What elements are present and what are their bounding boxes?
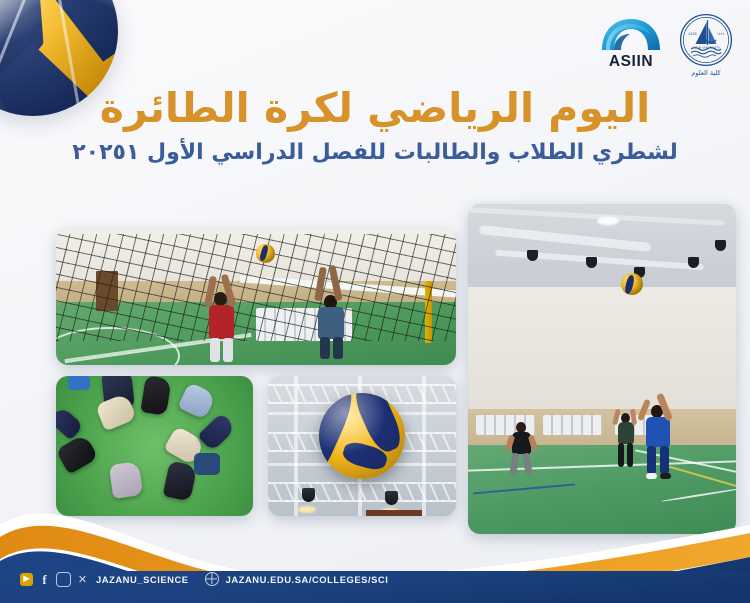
poster-canvas: ASIIN 142 bbox=[0, 0, 750, 603]
college-name-label: كلية العلوم bbox=[676, 69, 736, 77]
player-figure bbox=[204, 278, 244, 362]
arch-icon bbox=[600, 17, 662, 51]
page-title: اليوم الرياضي لكرة الطائرة bbox=[0, 86, 750, 132]
svg-text:JAZAN UNIVERSITY: JAZAN UNIVERSITY bbox=[691, 46, 720, 50]
sailboat-seal-icon: 1426 ١٤٢٦ JAZAN UNIVERSITY bbox=[679, 13, 733, 67]
social-handle: JAZANU_SCIENCE bbox=[96, 574, 189, 585]
globe-icon bbox=[205, 572, 219, 586]
facebook-icon[interactable]: f bbox=[38, 573, 51, 586]
photo-net bbox=[56, 229, 456, 365]
asiin-wordmark: ASIIN bbox=[598, 53, 664, 71]
logo-group: ASIIN 142 bbox=[598, 13, 736, 77]
instagram-icon[interactable] bbox=[56, 572, 71, 587]
jazan-university-logo: 1426 ١٤٢٦ JAZAN UNIVERSITY كلية العلوم bbox=[676, 13, 736, 77]
youtube-icon[interactable]: ▶ bbox=[20, 573, 33, 586]
footer-bar: ▶ f ✕ JAZANU_SCIENCE JAZANU.EDU.SA/COLLE… bbox=[0, 555, 750, 603]
x-twitter-icon[interactable]: ✕ bbox=[76, 573, 89, 586]
volleyball-in-photo bbox=[256, 244, 275, 263]
website-url: JAZANU.EDU.SA/COLLEGES/SCI bbox=[226, 574, 389, 585]
volleyball-in-photo bbox=[621, 273, 643, 295]
svg-text:١٤٢٦: ١٤٢٦ bbox=[717, 32, 724, 36]
player-figure bbox=[312, 271, 352, 358]
asiin-logo: ASIIN bbox=[598, 13, 664, 71]
title-block: اليوم الرياضي لكرة الطائرة لشطري الطلاب … bbox=[0, 86, 750, 166]
page-subtitle: لشطري الطلاب والطالبات للفصل الدراسي الأ… bbox=[0, 140, 750, 166]
svg-text:1426: 1426 bbox=[688, 32, 697, 36]
social-icon-group: ▶ f ✕ bbox=[20, 572, 89, 587]
